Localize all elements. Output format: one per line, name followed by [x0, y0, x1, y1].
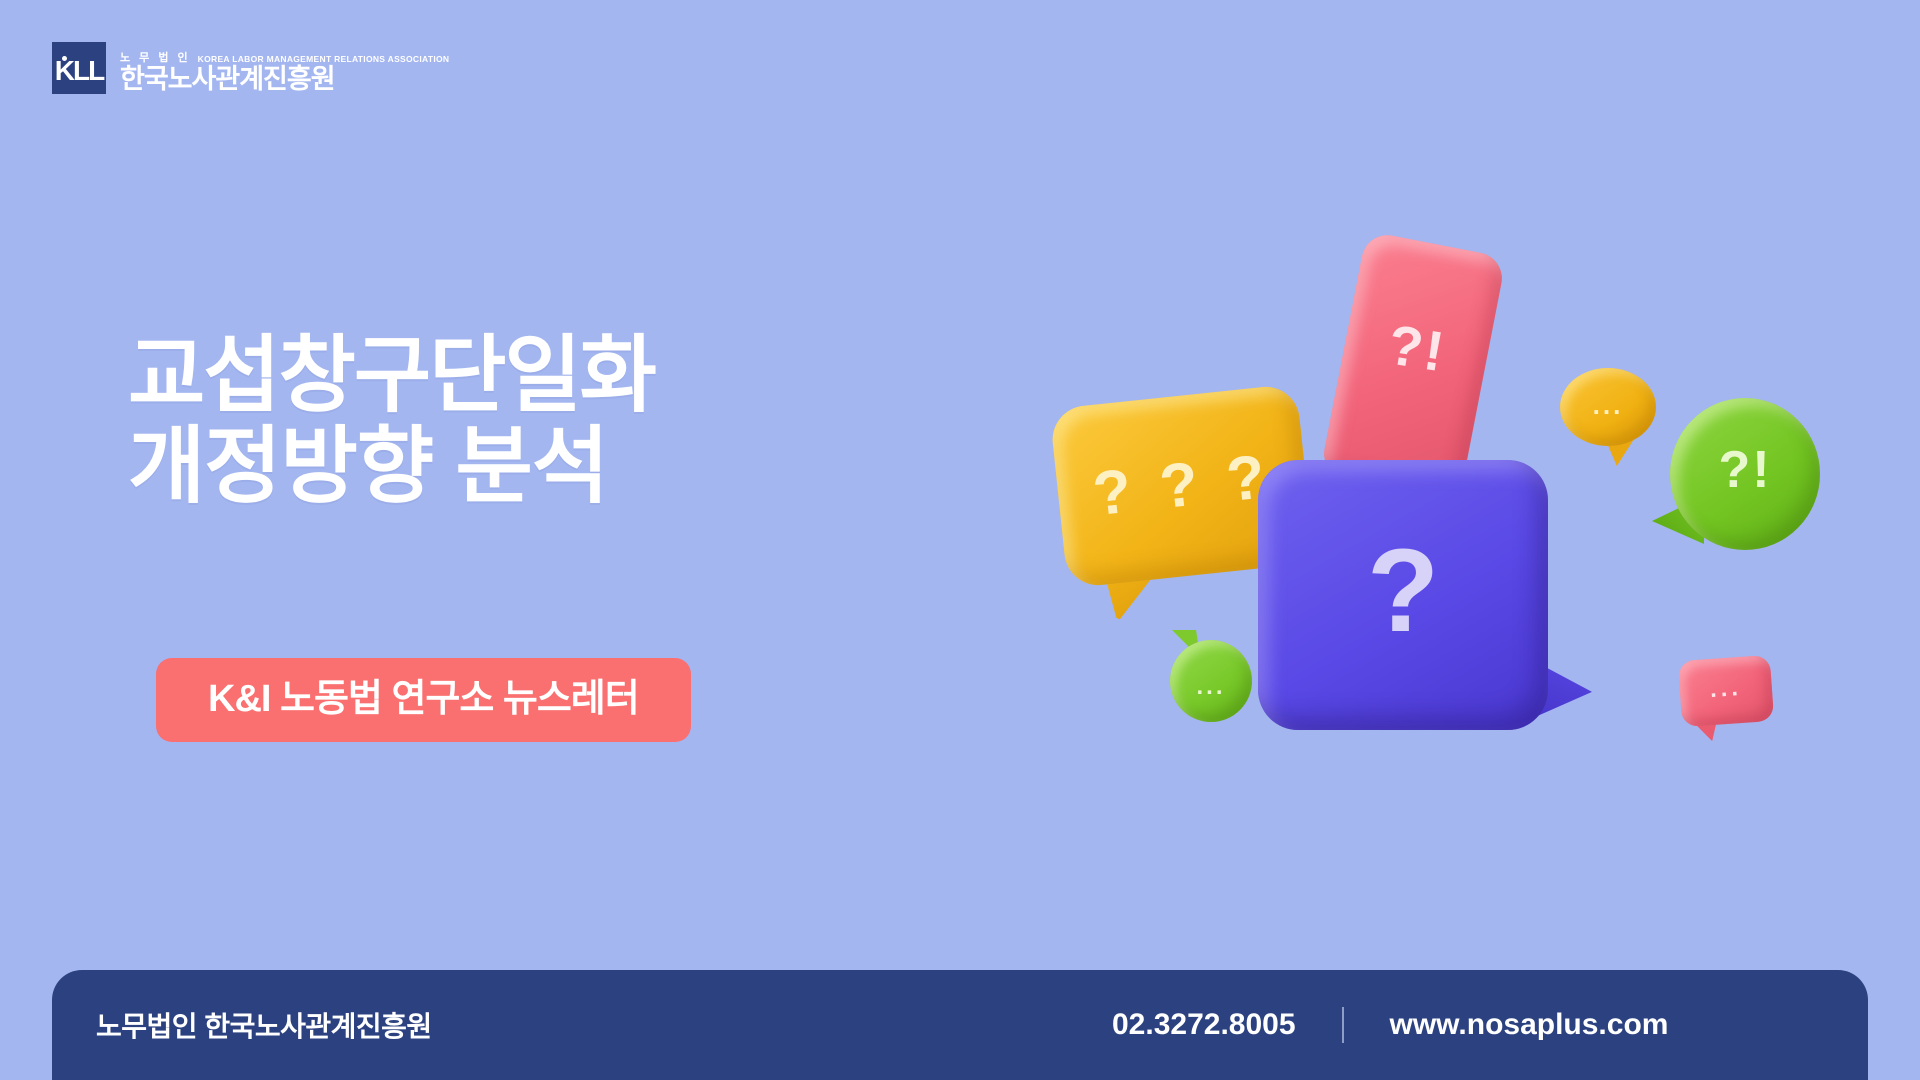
speech-bubble-purple-large-icon: ? — [1258, 460, 1548, 730]
brand-logo[interactable]: KLL 노 무 법 인 KOREA LABOR MANAGEMENT RELAT… — [52, 42, 449, 94]
footer-website-link[interactable]: www.nosaplus.com — [1390, 1008, 1669, 1042]
bubble-marks: ?! — [1718, 444, 1771, 496]
poster-canvas: KLL 노 무 법 인 KOREA LABOR MANAGEMENT RELAT… — [0, 0, 1920, 1080]
newsletter-badge[interactable]: K&I 노동법 연구소 뉴스레터 — [156, 658, 691, 742]
bubble-content: ... — [1560, 368, 1656, 446]
bubble-marks: ? ? ? — [1090, 446, 1274, 526]
bubble-content: ... — [1170, 640, 1252, 722]
bubble-marks: ... — [1709, 676, 1743, 702]
bubble-marks: ... — [1196, 675, 1225, 699]
headline-line-1: 교섭창구단일화 — [128, 330, 928, 421]
footer-bar: 노무법인 한국노사관계진흥원 02.3272.8005 www.nosaplus… — [52, 970, 1868, 1080]
bubble-marks: ... — [1593, 392, 1624, 418]
logo-company-name: 한국노사관계진흥원 — [120, 66, 449, 93]
logo-kr-small: 노 무 법 인 — [120, 53, 191, 64]
bubble-marks: ?! — [1384, 316, 1449, 380]
headline-line-2: 개정방향 분석 — [128, 421, 928, 512]
speech-bubbles-illustration: ? ? ? ... ?! ?! — [1080, 270, 1720, 700]
footer-phone[interactable]: 02.3272.8005 — [1112, 1008, 1296, 1042]
speech-bubble-yellow-small-icon: ... — [1560, 368, 1656, 446]
footer-company-name: 노무법인 한국노사관계진흥원 — [96, 1005, 432, 1045]
newsletter-badge-label: K&I 노동법 연구소 뉴스레터 — [208, 680, 639, 718]
logo-text-block: 노 무 법 인 KOREA LABOR MANAGEMENT RELATIONS… — [120, 53, 449, 94]
logo-mark-letters: KLL — [52, 45, 106, 97]
speech-bubble-green-large-icon: ?! — [1670, 398, 1820, 550]
headline-block: 교섭창구단일화 개정방향 분석 — [128, 330, 928, 511]
speech-bubble-pink-small-icon: ... — [1678, 655, 1774, 727]
logo-mark-icon: KLL — [52, 42, 106, 94]
bubble-content: ? — [1258, 460, 1548, 730]
bubble-content: ... — [1678, 655, 1774, 727]
logo-subtitle-row: 노 무 법 인 KOREA LABOR MANAGEMENT RELATIONS… — [120, 53, 449, 64]
logo-en-small: KOREA LABOR MANAGEMENT RELATIONS ASSOCIA… — [198, 55, 450, 64]
footer-contact-group: 02.3272.8005 www.nosaplus.com — [1112, 1007, 1668, 1043]
bubble-marks: ? — [1367, 532, 1439, 650]
speech-bubble-green-small-icon: ... — [1170, 640, 1252, 722]
footer-separator-divider — [1342, 1007, 1344, 1043]
bubble-content: ?! — [1670, 398, 1820, 550]
